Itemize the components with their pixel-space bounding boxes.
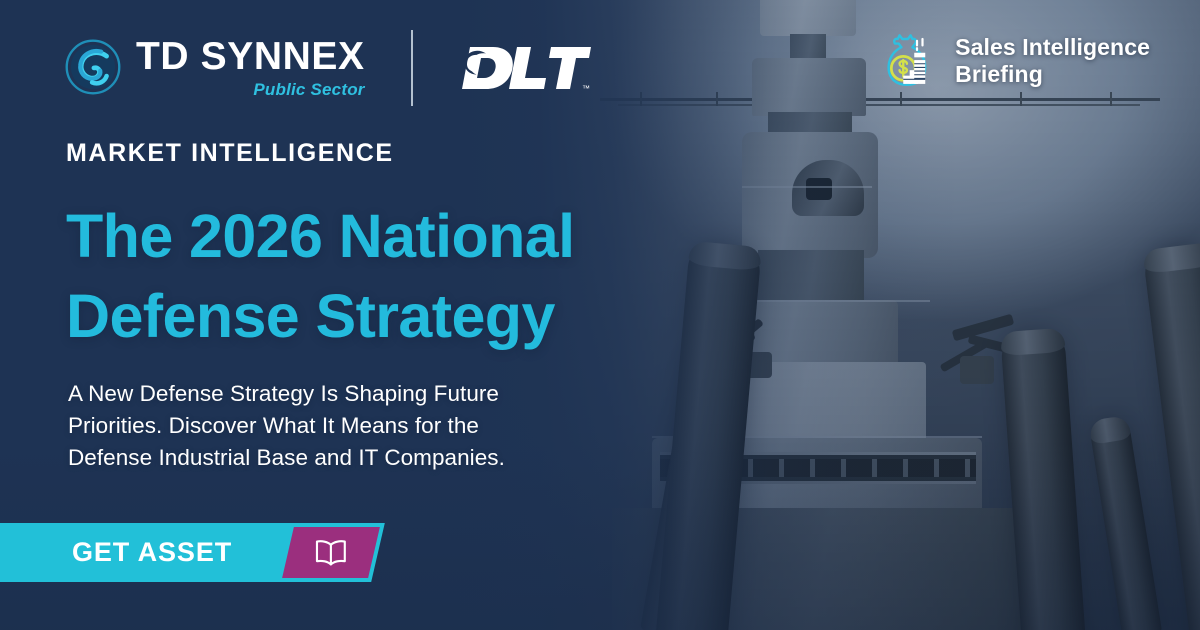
badge-label: Sales Intelligence Briefing (955, 34, 1150, 88)
banner-content: TD SYNNEX Public Sector ™ (0, 0, 1200, 630)
td-synnex-public-sector-label: Public Sector (136, 79, 365, 101)
eyebrow-label: MARKET INTELLIGENCE (66, 138, 394, 168)
dlt-logo[interactable]: ™ (453, 43, 591, 93)
cta-label: GET ASSET (72, 537, 232, 568)
td-synnex-name: TD SYNNEX (136, 36, 365, 78)
td-synnex-logo[interactable]: TD SYNNEX Public Sector (64, 36, 365, 101)
open-book-icon (313, 538, 349, 568)
description-text: A New Defense Strategy Is Shaping Future… (68, 378, 568, 474)
page-title: The 2026 National Defense Strategy (66, 196, 706, 356)
cta-icon-container[interactable] (282, 527, 380, 578)
td-synnex-wordmark: TD SYNNEX Public Sector (136, 36, 365, 101)
td-synnex-swirl-icon (64, 38, 122, 96)
marketing-banner: TD SYNNEX Public Sector ™ (0, 0, 1200, 630)
sales-intelligence-briefing-badge: Sales Intelligence Briefing (873, 28, 1150, 94)
money-bag-chart-icon (873, 28, 939, 94)
logo-divider (411, 30, 413, 106)
dlt-wordmark-icon: ™ (453, 43, 591, 93)
dlt-trademark: ™ (582, 84, 590, 93)
logo-row: TD SYNNEX Public Sector ™ (64, 26, 591, 110)
get-asset-button[interactable]: GET ASSET (0, 523, 385, 582)
